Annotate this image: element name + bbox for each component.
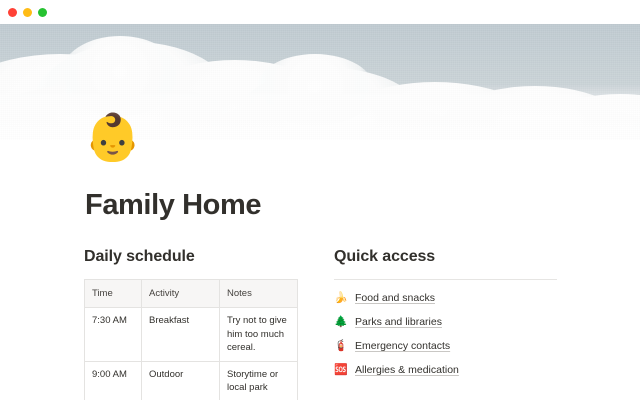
cell-notes[interactable]: Storytime or local park — [220, 361, 298, 400]
close-window-button[interactable] — [8, 8, 17, 17]
quick-access-label[interactable]: Allergies & medication — [355, 363, 459, 377]
window-titlebar — [0, 0, 640, 24]
quick-access-item-emergency-contacts[interactable]: 🧯 Emergency contacts — [334, 339, 558, 353]
daily-schedule-heading: Daily schedule — [84, 248, 298, 266]
page-body: 👶 Family Home Daily schedule Time Activi… — [0, 140, 640, 400]
table-row[interactable]: 7:30 AM Breakfast Try not to give him to… — [85, 308, 298, 361]
page-icon-baby-emoji[interactable]: 👶 — [84, 112, 140, 162]
quick-access-label[interactable]: Parks and libraries — [355, 315, 442, 329]
app-window: 👶 Family Home Daily schedule Time Activi… — [0, 0, 640, 400]
column-header-activity[interactable]: Activity — [142, 280, 220, 308]
quick-access-column: Quick access 🍌 Food and snacks 🌲 Parks a… — [334, 248, 558, 387]
quick-access-item-parks-and-libraries[interactable]: 🌲 Parks and libraries — [334, 315, 558, 329]
cell-time[interactable]: 7:30 AM — [85, 308, 142, 361]
banana-icon: 🍌 — [334, 291, 348, 305]
daily-schedule-column: Daily schedule Time Activity Notes — [84, 248, 298, 400]
minimize-window-button[interactable] — [23, 8, 32, 17]
sos-icon: 🆘 — [334, 363, 348, 377]
maximize-window-button[interactable] — [38, 8, 47, 17]
evergreen-tree-icon: 🌲 — [334, 315, 348, 329]
table-header-row: Time Activity Notes — [85, 280, 298, 308]
quick-access-label[interactable]: Emergency contacts — [355, 339, 450, 353]
quick-access-item-food-and-snacks[interactable]: 🍌 Food and snacks — [334, 291, 558, 305]
traffic-light-group — [8, 8, 47, 17]
cell-time[interactable]: 9:00 AM — [85, 361, 142, 400]
cell-activity[interactable]: Outdoor — [142, 361, 220, 400]
daily-schedule-table[interactable]: Time Activity Notes 7:30 AM Breakfast Tr… — [84, 279, 298, 400]
quick-access-heading: Quick access — [334, 248, 558, 266]
cell-notes[interactable]: Try not to give him too much cereal. — [220, 308, 298, 361]
cell-activity[interactable]: Breakfast — [142, 308, 220, 361]
page-title[interactable]: Family Home — [85, 189, 261, 222]
column-header-notes[interactable]: Notes — [220, 280, 298, 308]
quick-access-label[interactable]: Food and snacks — [355, 291, 435, 305]
quick-access-divider — [334, 279, 557, 280]
quick-access-item-allergies-and-medication[interactable]: 🆘 Allergies & medication — [334, 363, 558, 377]
column-header-time[interactable]: Time — [85, 280, 142, 308]
fire-extinguisher-icon: 🧯 — [334, 339, 348, 353]
table-row[interactable]: 9:00 AM Outdoor Storytime or local park — [85, 361, 298, 400]
